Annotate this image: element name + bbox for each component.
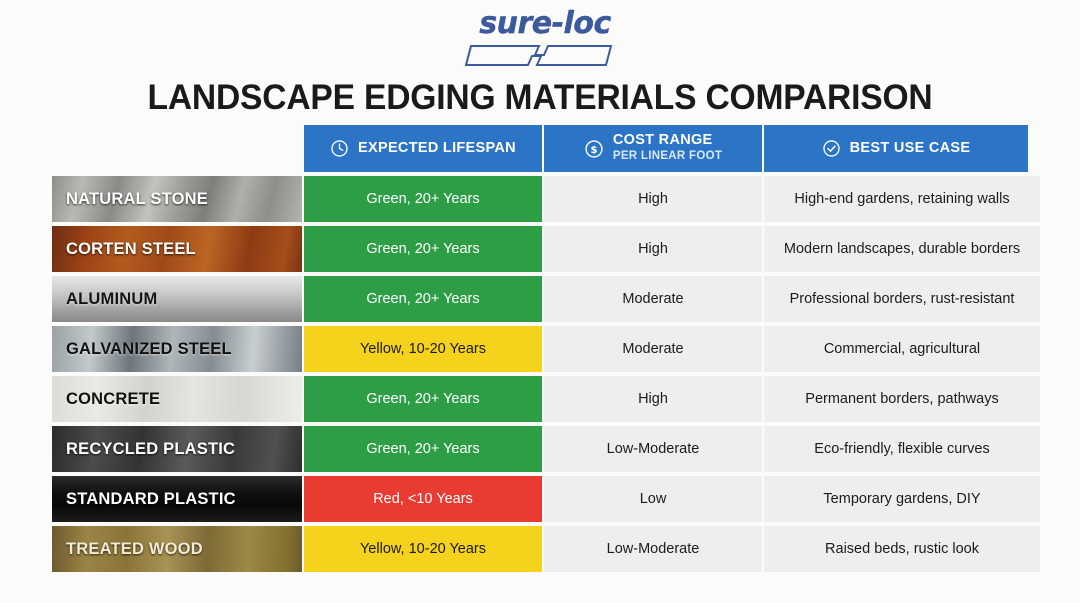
use-case-cell: Professional borders, rust-resistant <box>764 276 1040 322</box>
header-cell-material <box>52 125 302 172</box>
cost-cell: High <box>544 176 762 222</box>
lifespan-cell: Yellow, 10-20 Years <box>304 326 542 372</box>
use-case-cell: Eco-friendly, flexible curves <box>764 426 1040 472</box>
material-label: CONCRETE <box>52 390 160 409</box>
use-case-cell: Permanent borders, pathways <box>764 376 1040 422</box>
lifespan-cell: Green, 20+ Years <box>304 276 542 322</box>
lifespan-cell: Green, 20+ Years <box>304 426 542 472</box>
table-header-row: EXPECTED LIFESPAN $ COST RANGE PER LINEA… <box>52 125 1028 172</box>
header-cell-cost: $ COST RANGE PER LINEAR FOOT <box>544 125 762 172</box>
lifespan-cell: Green, 20+ Years <box>304 176 542 222</box>
cost-cell: High <box>544 376 762 422</box>
cost-cell: Moderate <box>544 276 762 322</box>
table-row: RECYCLED PLASTICGreen, 20+ YearsLow-Mode… <box>52 426 1028 472</box>
lifespan-cell: Yellow, 10-20 Years <box>304 526 542 572</box>
brand-logo: sure-loc <box>0 6 1080 70</box>
table-row: GALVANIZED STEELYellow, 10-20 YearsModer… <box>52 326 1028 372</box>
cost-cell: Moderate <box>544 326 762 372</box>
header-label-cost: COST RANGE <box>613 132 713 148</box>
material-swatch-cell: ALUMINUM <box>52 276 302 322</box>
material-swatch-cell: RECYCLED PLASTIC <box>52 426 302 472</box>
material-swatch-cell: GALVANIZED STEEL <box>52 326 302 372</box>
use-case-cell: Modern landscapes, durable borders <box>764 226 1040 272</box>
material-label: GALVANIZED STEEL <box>52 340 232 359</box>
table-row: CORTEN STEELGreen, 20+ YearsHighModern l… <box>52 226 1028 272</box>
use-case-cell: Temporary gardens, DIY <box>764 476 1040 522</box>
material-swatch-cell: NATURAL STONE <box>52 176 302 222</box>
material-label: NATURAL STONE <box>52 190 208 209</box>
header-sublabel-cost: PER LINEAR FOOT <box>613 149 722 164</box>
dollar-circle-icon: $ <box>584 139 604 159</box>
clock-icon <box>330 139 349 158</box>
lifespan-cell: Red, <10 Years <box>304 476 542 522</box>
material-swatch-cell: TREATED WOOD <box>52 526 302 572</box>
comparison-table: EXPECTED LIFESPAN $ COST RANGE PER LINEA… <box>52 125 1028 572</box>
table-row: ALUMINUMGreen, 20+ YearsModerateProfessi… <box>52 276 1028 322</box>
brand-wordmark: sure-loc <box>475 7 615 41</box>
header-label-use-case: BEST USE CASE <box>850 140 971 156</box>
header-label-lifespan: EXPECTED LIFESPAN <box>358 140 516 156</box>
cost-cell: Low-Moderate <box>544 426 762 472</box>
lifespan-cell: Green, 20+ Years <box>304 376 542 422</box>
header-cell-lifespan: EXPECTED LIFESPAN <box>304 125 542 172</box>
table-row: STANDARD PLASTICRed, <10 YearsLowTempora… <box>52 476 1028 522</box>
cost-cell: Low <box>544 476 762 522</box>
lifespan-cell: Green, 20+ Years <box>304 226 542 272</box>
check-circle-icon <box>822 139 841 158</box>
use-case-cell: High-end gardens, retaining walls <box>764 176 1040 222</box>
material-label: ALUMINUM <box>52 290 157 309</box>
header-cell-use-case: BEST USE CASE <box>764 125 1028 172</box>
material-swatch-cell: CORTEN STEEL <box>52 226 302 272</box>
use-case-cell: Commercial, agricultural <box>764 326 1040 372</box>
sure-loc-logo-mark <box>465 40 615 68</box>
table-row: TREATED WOODYellow, 10-20 YearsLow-Moder… <box>52 526 1028 572</box>
material-label: RECYCLED PLASTIC <box>52 440 235 459</box>
material-swatch-cell: STANDARD PLASTIC <box>52 476 302 522</box>
svg-text:$: $ <box>590 144 597 155</box>
table-row: NATURAL STONEGreen, 20+ YearsHighHigh-en… <box>52 176 1028 222</box>
material-label: STANDARD PLASTIC <box>52 490 236 509</box>
use-case-cell: Raised beds, rustic look <box>764 526 1040 572</box>
cost-cell: Low-Moderate <box>544 526 762 572</box>
table-row: CONCRETEGreen, 20+ YearsHighPermanent bo… <box>52 376 1028 422</box>
material-label: CORTEN STEEL <box>52 240 196 259</box>
page-title: LANDSCAPE EDGING MATERIALS COMPARISON <box>22 78 1059 118</box>
material-swatch-cell: CONCRETE <box>52 376 302 422</box>
cost-cell: High <box>544 226 762 272</box>
material-label: TREATED WOOD <box>52 540 203 559</box>
